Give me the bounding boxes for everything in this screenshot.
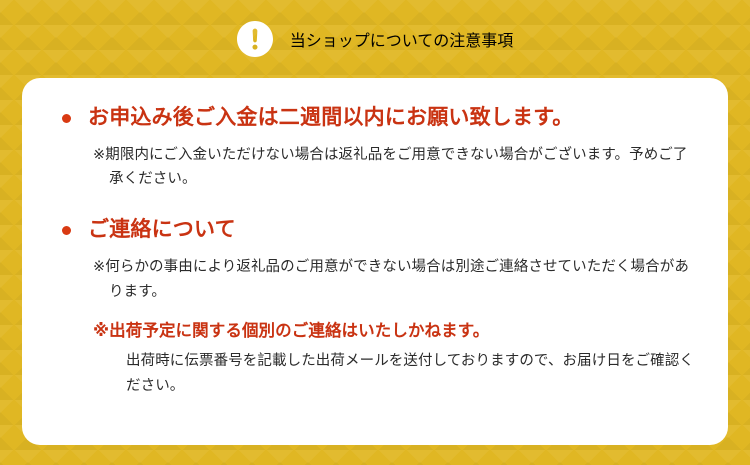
alert-exclamation-circle-icon (237, 21, 273, 57)
section-note-detail: 出荷時に伝票番号を記載した出荷メールを送付しておりますので、お届け日をご確認くだ… (48, 349, 702, 399)
section-note: ※何らかの事由により返礼品のご用意ができない場合は別途ご連絡させていただく場合が… (48, 255, 702, 305)
page-title: 当ショップについての注意事項 (290, 27, 514, 51)
notice-page: 当ショップについての注意事項 お申込み後ご入金は二週間以内にお願い致します。 ※… (0, 0, 750, 465)
section-note-emphasis: ※出荷予定に関する個別のご連絡はいたしかねます。 (48, 319, 702, 345)
notice-card: お申込み後ご入金は二週間以内にお願い致します。 ※期限内にご入金いただけない場合… (22, 78, 728, 445)
notice-section-contact: ご連絡について ※何らかの事由により返礼品のご用意ができない場合は別途ご連絡させ… (48, 214, 702, 399)
bullet-icon (62, 226, 71, 235)
section-heading: お申込み後ご入金は二週間以内にお願い致します。 (88, 102, 574, 134)
section-heading: ご連絡について (88, 214, 236, 246)
section-note: ※期限内にご入金いただけない場合は返礼品をご用意できない場合がございます。予めご… (48, 143, 702, 193)
bullet-icon (62, 114, 71, 123)
page-header: 当ショップについての注意事項 (0, 0, 750, 78)
notice-section-payment: お申込み後ご入金は二週間以内にお願い致します。 ※期限内にご入金いただけない場合… (48, 102, 702, 192)
section-heading-row: ご連絡について (48, 214, 702, 246)
section-heading-row: お申込み後ご入金は二週間以内にお願い致します。 (48, 102, 702, 134)
